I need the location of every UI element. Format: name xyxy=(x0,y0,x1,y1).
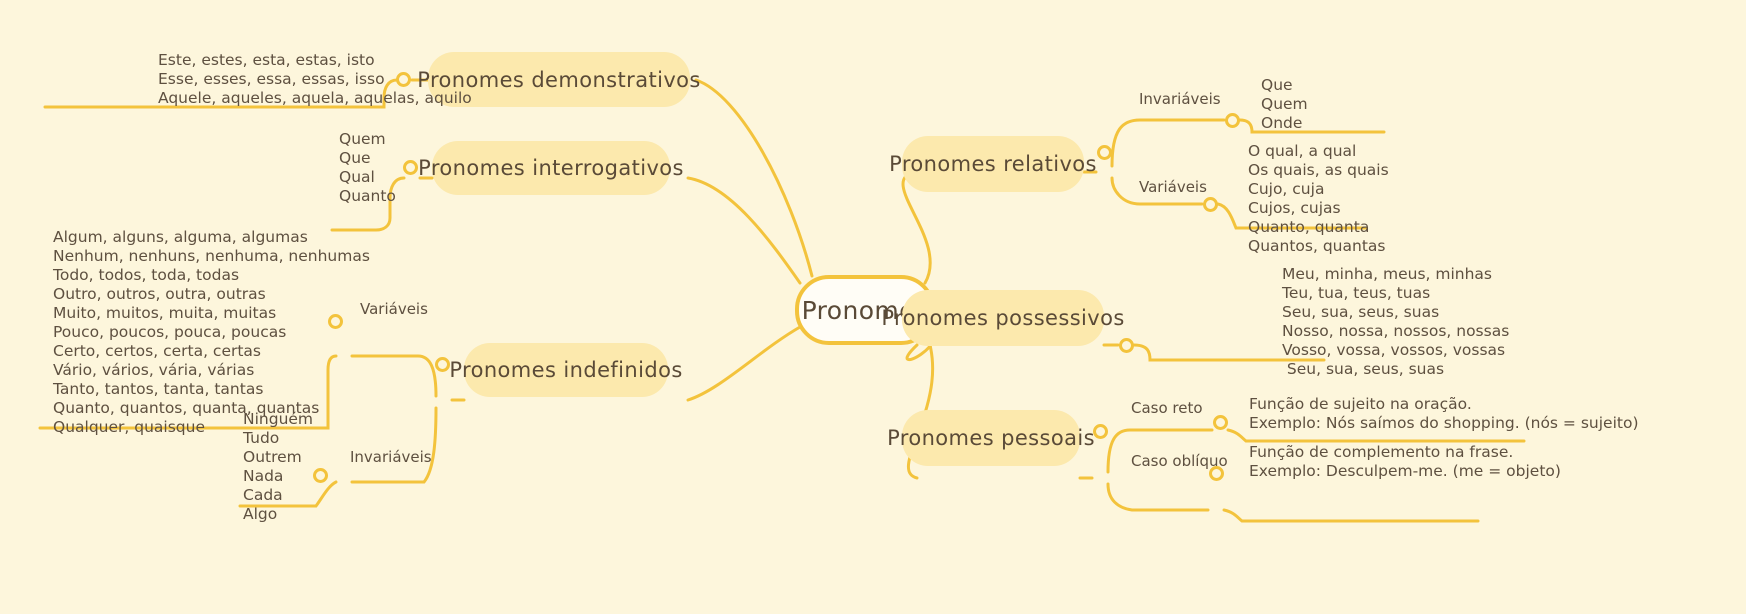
node-pronomes-possessivos[interactable]: Pronomes possessivos xyxy=(902,290,1104,346)
leaf-caso-obliquo-items: Função de complemento na frase. Exemplo:… xyxy=(1249,443,1561,481)
mindmap-canvas: Pronomes Pronomes demonstrativos Este, e… xyxy=(0,0,1746,614)
node-possessivos-label: Pronomes possessivos xyxy=(881,306,1124,330)
connector-dot-pessoais[interactable] xyxy=(1093,424,1108,439)
leaf-relativos-invariaveis-items: Que Quem Onde xyxy=(1261,76,1308,133)
leaf-demonstrativos-items: Este, estes, esta, estas, isto Esse, ess… xyxy=(158,51,472,108)
leaf-relativos-variaveis-items: O qual, a qual Os quais, as quais Cujo, … xyxy=(1248,142,1389,256)
leaf-indefinidos-variaveis-items: Algum, alguns, alguma, algumas Nenhum, n… xyxy=(53,228,370,437)
connector-dot-caso-reto[interactable] xyxy=(1213,415,1228,430)
leaf-possessivos-items: Meu, minha, meus, minhas Teu, tua, teus,… xyxy=(1282,265,1509,379)
label-indefinidos-invariaveis: Invariáveis xyxy=(350,448,432,466)
connector-dot-interrogativos[interactable] xyxy=(403,160,418,175)
label-relativos-variaveis: Variáveis xyxy=(1139,178,1207,196)
connector-dot-indefinidos[interactable] xyxy=(435,357,450,372)
connector-dot-relativos-variaveis[interactable] xyxy=(1203,197,1218,212)
connector-dot-indefinidos-invariaveis[interactable] xyxy=(313,468,328,483)
node-indefinidos-label: Pronomes indefinidos xyxy=(449,358,682,382)
label-pessoais-caso-reto: Caso reto xyxy=(1131,399,1203,417)
connector-dot-relativos[interactable] xyxy=(1097,145,1112,160)
connector-dot-relativos-invariaveis[interactable] xyxy=(1225,113,1240,128)
connector-dot-caso-obliquo[interactable] xyxy=(1209,466,1224,481)
connector-dot-possessivos[interactable] xyxy=(1119,338,1134,353)
node-pronomes-indefinidos[interactable]: Pronomes indefinidos xyxy=(464,343,668,397)
node-pronomes-pessoais[interactable]: Pronomes pessoais xyxy=(902,410,1080,466)
label-indefinidos-variaveis: Variáveis xyxy=(360,300,428,318)
leaf-caso-reto-items: Função de sujeito na oração. Exemplo: Nó… xyxy=(1249,395,1639,433)
node-relativos-label: Pronomes relativos xyxy=(889,152,1097,176)
leaf-interrogativos-items: Quem Que Qual Quanto xyxy=(339,130,396,206)
node-pronomes-interrogativos[interactable]: Pronomes interrogativos xyxy=(432,141,670,195)
node-pessoais-label: Pronomes pessoais xyxy=(887,426,1095,450)
node-interrogativos-label: Pronomes interrogativos xyxy=(418,156,684,180)
label-relativos-invariaveis: Invariáveis xyxy=(1139,90,1221,108)
node-pronomes-relativos[interactable]: Pronomes relativos xyxy=(902,136,1084,192)
leaf-indefinidos-invariaveis-items: Ninguém Tudo Outrem Nada Cada Algo xyxy=(243,410,313,524)
